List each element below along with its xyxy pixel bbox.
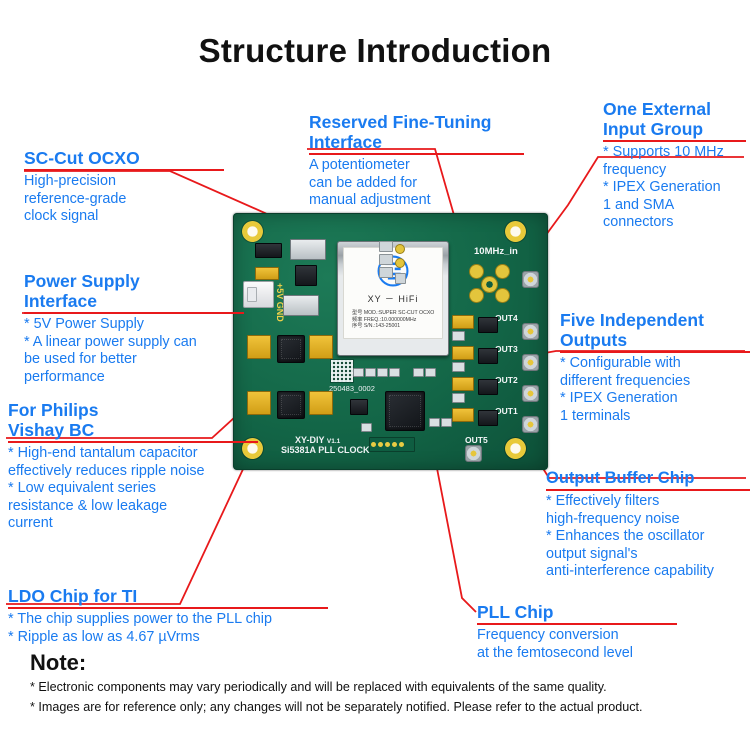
out1-label: OUT1 [495,406,518,416]
callout-underline [309,153,524,155]
callout-underline [560,351,750,353]
inductor [295,265,317,286]
callout-body: * 5V Power Supply * A linear power suppl… [24,316,244,386]
callout-underline [8,607,328,609]
out5-label: OUT5 [465,435,488,445]
ocxo-oscillator-can: XY － HiFi 型号 MOD.:SUPER SC-CUT OCXO 频率 F… [337,241,449,356]
ocxo-brand: XY － HiFi [368,292,419,305]
callout-philips-vishay-bc: For Philips Vishay BC * High-end tantalu… [8,400,258,533]
ocxo-label: XY － HiFi 型号 MOD.:SUPER SC-CUT OCXO 频率 F… [343,247,443,339]
sma-pad-tl [470,265,483,278]
structure-introduction-diagram: Structure Introduction [0,0,750,750]
passive-resistor-a [353,368,364,377]
passive-resistor-h [441,418,452,427]
sma-pad-bl [470,289,483,302]
passive-resistor-g [429,418,440,427]
note-line-2: * Images are for reference only; any cha… [30,698,730,716]
capacitor-philips-vishay-top [290,239,326,260]
callout-heading: Reserved Fine-Tuning Interface [309,112,524,152]
ldo-chip-ti-upper [277,335,305,363]
tantalum-capacitor-5 [309,391,333,415]
qr-code [330,359,354,383]
callout-heading: LDO Chip for TI [8,586,328,606]
tantalum-capacitor-3 [309,335,333,359]
ipex-connector-out4 [522,323,539,340]
passive-resistor-e [413,368,424,377]
callout-heading: PLL Chip [477,602,677,622]
input-silkscreen-label: 10MHz_in [474,246,518,257]
ipex-connector-input [522,271,539,288]
callout-underline [24,312,244,314]
reserved-pad-b [379,254,393,265]
power-connector-jst [243,281,274,308]
crystal-resonator [350,399,368,415]
out4-resistor [452,331,465,341]
note-section: Note: * Electronic components may vary p… [30,650,730,716]
ipex-connector-out1 [522,416,539,433]
pll-chip-si5381a [385,391,425,431]
out3-buffer-chip [478,348,498,364]
out1-capacitor [452,408,474,422]
out4-capacitor [452,315,474,329]
callout-underline [477,623,677,625]
reserved-pad-c [379,267,393,278]
board-model-silkscreen: Si5381A PLL CLOCK [281,445,370,455]
callout-heading: One External Input Group [603,99,746,139]
fine-tuning-pad-1 [396,245,404,253]
sma-pad-br [496,289,509,302]
callout-underline [8,441,258,443]
output-buffer-chip [478,379,498,395]
ldo-chip-ti [277,391,305,419]
reserved-pad-a [379,241,393,252]
ipex-connector-out2 [522,385,539,402]
sma-center-pad [482,277,497,292]
note-line-1: * Electronic components may vary periodi… [30,678,730,696]
callout-one-external-input-group: One External Input Group * Supports 10 M… [603,99,746,232]
out1-buffer-chip [478,410,498,426]
capacitor-philips-vishay-mid [283,295,319,316]
pin-header-bottom [369,437,415,452]
out2-label: OUT2 [495,375,518,385]
callout-output-buffer-chip: Output Buffer Chip * Effectively filters… [546,468,750,581]
callout-body: A potentiometer can be added for manual … [309,157,524,210]
passive-resistor-i [361,423,372,432]
callout-heading: Power Supply Interface [24,271,244,311]
callout-ldo-chip-for-ti: LDO Chip for TI * The chip supplies powe… [8,586,328,646]
out3-resistor [452,362,465,372]
callout-reserved-fine-tuning-interface: Reserved Fine-Tuning Interface A potenti… [309,112,524,210]
tantalum-capacitor [255,267,279,280]
callout-body: * Effectively filters high-frequency noi… [546,493,750,581]
callout-heading: For Philips Vishay BC [8,400,258,440]
ipex-connector-out5 [465,445,482,462]
callout-body: * High-end tantalum capacitor effectivel… [8,445,258,533]
callout-heading: Output Buffer Chip [546,468,750,488]
mounting-hole-bottom-right [505,438,526,459]
callout-heading: SC-Cut OCXO [24,148,224,168]
ipex-connector-out3 [522,354,539,371]
callout-five-independent-outputs: Five Independent Outputs * Configurable … [560,310,750,425]
board-name-silkscreen: XY-DIY V1.1 [295,435,340,445]
sma-pad-tr [496,265,509,278]
ocxo-spec-text: 型号 MOD.:SUPER SC-CUT OCXO 频率 FREQ.:10.00… [352,310,434,330]
callout-sc-cut-ocxo: SC-Cut OCXO High-precision reference-gra… [24,148,224,226]
out2-resistor [452,393,465,403]
tantalum-capacitor-2 [247,335,271,359]
pcb-board: XY － HiFi 型号 MOD.:SUPER SC-CUT OCXO 频率 F… [233,213,548,470]
callout-power-supply-interface: Power Supply Interface * 5V Power Supply… [24,271,244,386]
callout-underline [24,169,224,171]
out2-capacitor [452,377,474,391]
callout-body: * Configurable with different frequencie… [560,355,750,425]
fine-tuning-pad-2 [396,259,404,267]
board-rev: V1.1 [327,438,340,445]
callout-body: High-precision reference-grade clock sig… [24,173,224,226]
callout-body: * The chip supplies power to the PLL chi… [8,611,328,646]
smd-component [255,243,282,258]
callout-heading: Five Independent Outputs [560,310,750,350]
out3-capacitor [452,346,474,360]
passive-resistor-b [365,368,376,377]
note-heading: Note: [30,650,730,676]
passive-resistor-f [425,368,436,377]
page-title: Structure Introduction [0,32,750,70]
passive-resistor-c [377,368,388,377]
callout-underline [603,140,746,142]
mounting-hole-top-left [242,221,263,242]
board-name: XY-DIY [295,435,324,445]
out4-label: OUT4 [495,313,518,323]
mounting-hole-top-right [505,221,526,242]
batch-code-silkscreen: 250483_0002 [329,384,375,393]
out4-buffer-chip [478,317,498,333]
fine-tuning-pad-3 [395,273,406,284]
passive-resistor-d [389,368,400,377]
out3-label: OUT3 [495,344,518,354]
callout-body: * Supports 10 MHz frequency * IPEX Gener… [603,144,746,232]
callout-underline [546,489,750,491]
